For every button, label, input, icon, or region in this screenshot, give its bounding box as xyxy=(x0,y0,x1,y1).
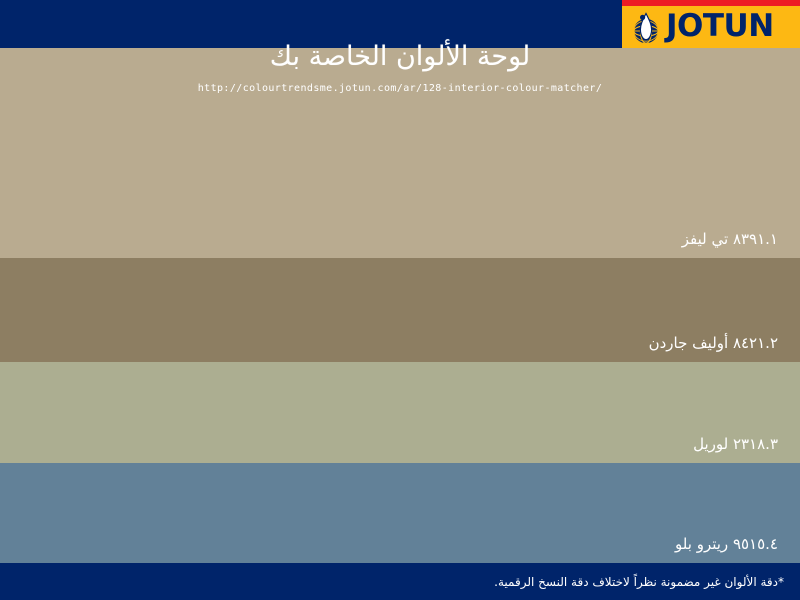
colour-swatch-list: ١.١٩٣٨ تي ليفز ٢.١٢٤٨ أوليف جاردن ٣.٨١٣٢… xyxy=(0,48,800,563)
colour-accuracy-disclaimer: *دقة الألوان غير مضمونة نظراً لاختلاف دق… xyxy=(494,575,800,589)
colour-swatch[interactable]: ١.١٩٣٨ تي ليفز xyxy=(0,48,800,258)
jotun-wordmark: JOTUN xyxy=(666,11,774,42)
colour-swatch[interactable]: ٣.٨١٣٢ لوريل xyxy=(0,362,800,463)
colour-swatch-label: ٤.٥١٥٩ ريترو بلو xyxy=(675,537,800,563)
colour-swatch[interactable]: ٢.١٢٤٨ أوليف جاردن xyxy=(0,258,800,362)
colour-palette-page: JOTUN ١.١٩٣٨ تي ليفز ٢.١٢٤٨ أوليف جاردن … xyxy=(0,0,800,600)
jotun-globe-drop-icon xyxy=(628,10,664,44)
colour-swatch-label: ٣.٨١٣٢ لوريل xyxy=(693,437,800,463)
colour-swatch[interactable]: ٤.٥١٥٩ ريترو بلو xyxy=(0,463,800,563)
colour-swatch-label: ١.١٩٣٨ تي ليفز xyxy=(682,232,800,258)
page-header: JOTUN xyxy=(0,0,800,48)
jotun-logo[interactable]: JOTUN xyxy=(622,0,800,48)
page-footer: *دقة الألوان غير مضمونة نظراً لاختلاف دق… xyxy=(0,563,800,600)
colour-swatch-label: ٢.١٢٤٨ أوليف جاردن xyxy=(649,336,800,362)
